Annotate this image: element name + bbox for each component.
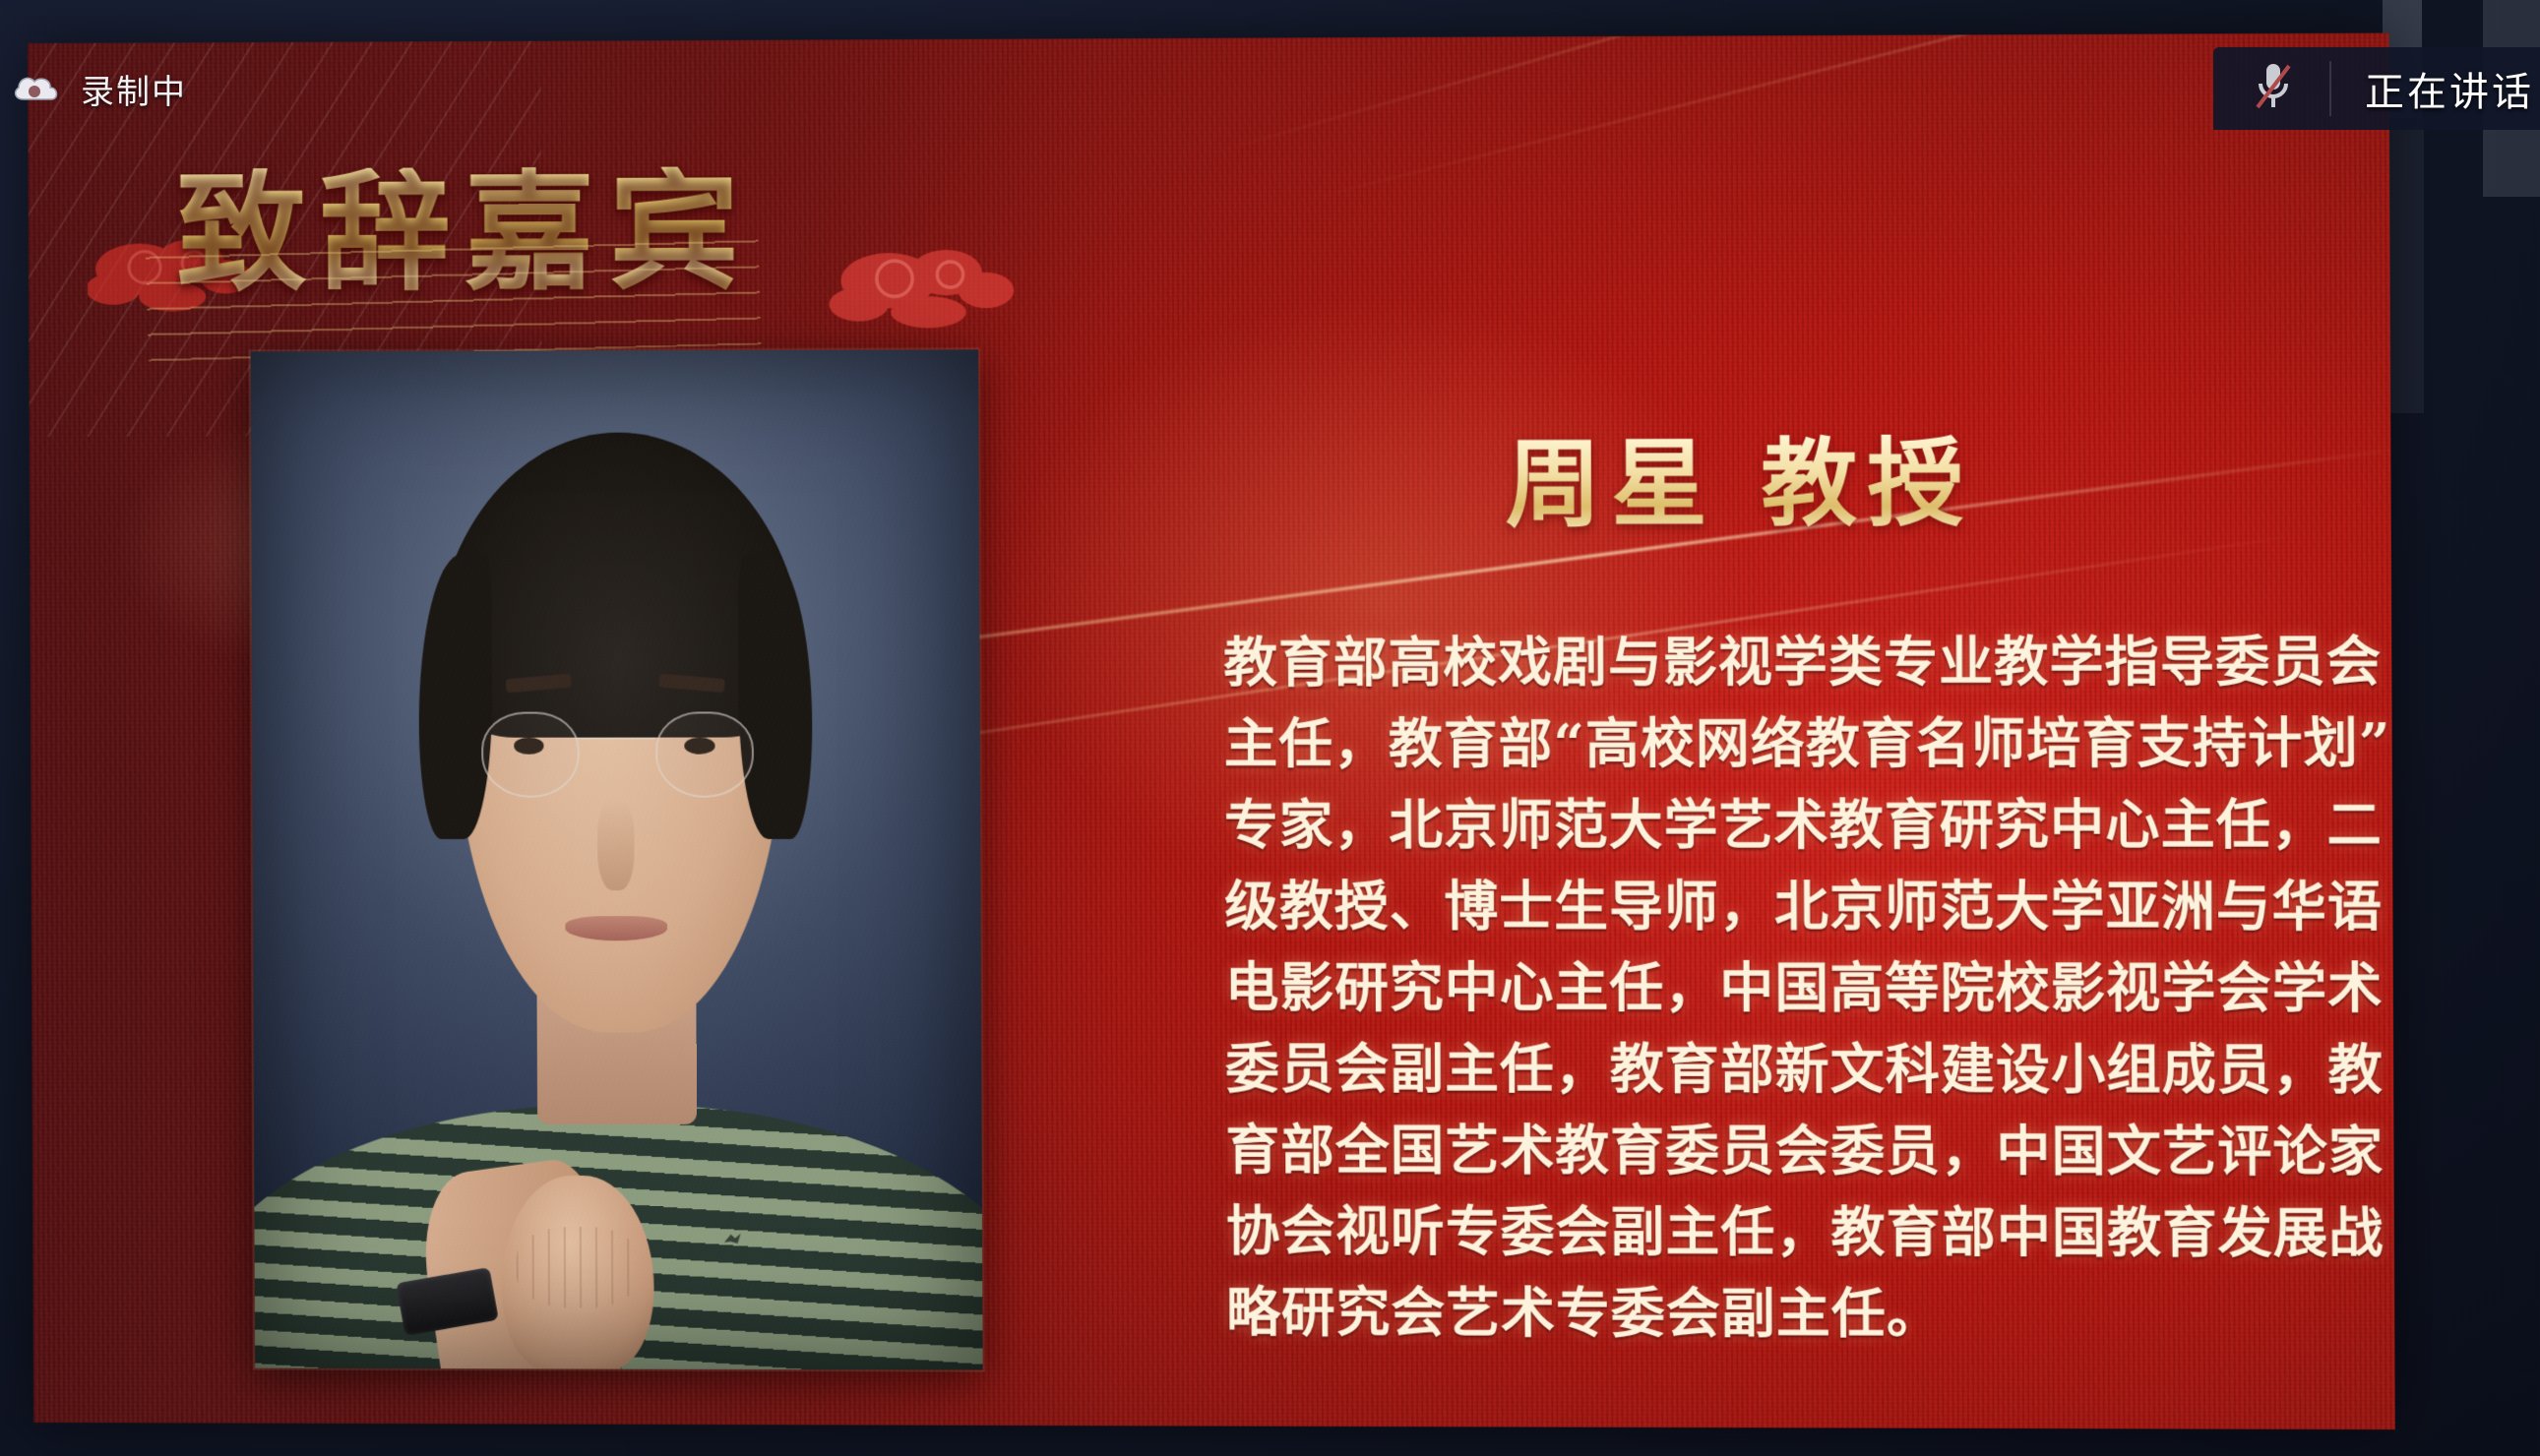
bio-line: 教育部高校戏剧与影视学类专业教学指导委员会 (1223, 621, 2377, 703)
speaking-indicator-panel[interactable]: 正在讲话 (2213, 47, 2540, 130)
slide-title-block: 致辞嘉宾 (176, 166, 754, 298)
bio-line: 育部全国艺术教育委员会委员，中国文艺评论家 (1225, 1110, 2379, 1193)
speaker-name: 周星 教授 (1505, 430, 1973, 536)
presentation-slide: 致辞嘉宾 (28, 33, 2395, 1430)
bio-line: 级教授、博士生导师，北京师范大学亚洲与华语 (1224, 866, 2378, 947)
bio-line: 协会视听专委会副主任，教育部中国教育发展战 (1226, 1190, 2380, 1274)
recording-indicator[interactable]: 录制中 (10, 65, 187, 113)
speaking-label: 正在讲话 (2365, 60, 2534, 117)
bio-line: 专家，北京师范大学艺术教育研究中心主任，二 (1224, 784, 2378, 866)
speaker-bio: 教育部高校戏剧与影视学类专业教学指导委员会 主任，教育部“高校网络教育名师培育支… (1223, 621, 2380, 1356)
bio-line: 主任，教育部“高校网络教育名师培育支持计划” (1223, 702, 2377, 785)
bio-line: 委员会副主任，教育部新文科建设小组成员，教 (1225, 1028, 2379, 1111)
bio-line: 电影研究中心主任，中国高等院校影视学会学术 (1225, 947, 2379, 1030)
microphone-muted-icon[interactable] (2251, 58, 2296, 120)
overlay-divider (2329, 61, 2331, 116)
recording-label: 录制中 (81, 65, 187, 113)
speaker-portrait-photo (251, 349, 983, 1369)
portrait-vignette (251, 349, 983, 1369)
page-title: 致辞嘉宾 (176, 166, 754, 298)
cloud-recording-icon (10, 70, 65, 109)
bio-line: 略研究会艺术专委会副主任。 (1226, 1272, 2380, 1357)
screenshot-root: 致辞嘉宾 (0, 0, 2540, 1456)
